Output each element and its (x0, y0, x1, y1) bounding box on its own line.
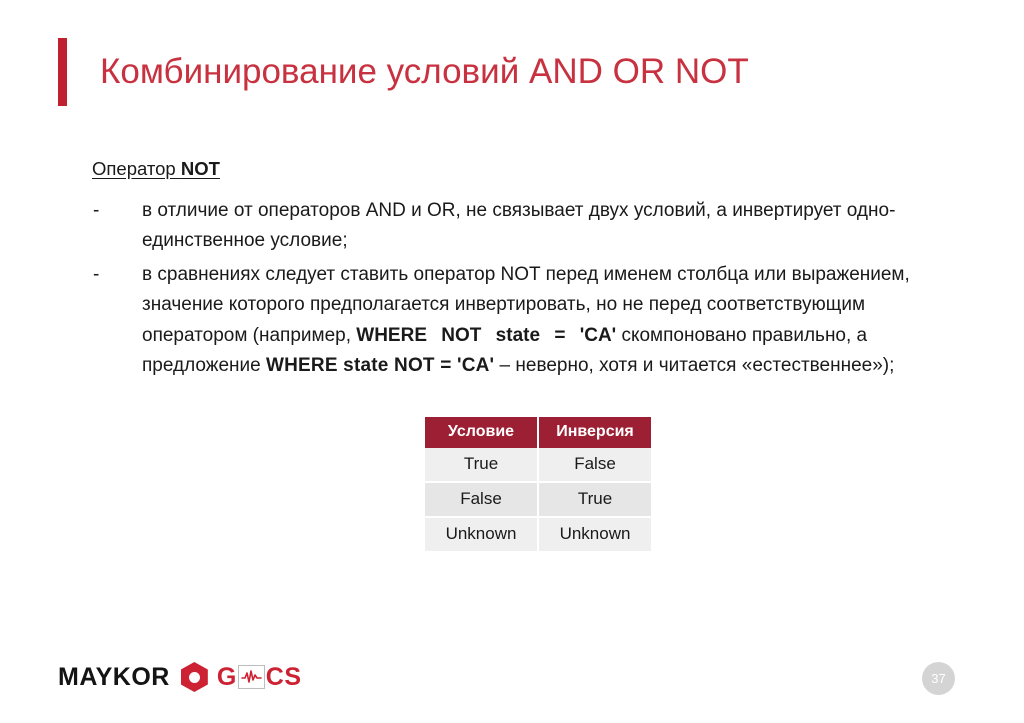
page-title: Комбинирование условий AND OR NOT (100, 53, 749, 92)
bullet-item-1: - в отличие от операторов AND и OR, не с… (92, 196, 952, 257)
sql-example-1: WHERE NOT state = 'CA' (356, 325, 616, 346)
after-sql-2: – неверно, (494, 355, 594, 376)
bullet-item-2: - в сравнениях следует ставить оператор … (92, 260, 952, 382)
company-logo: MAYKOR G CS (58, 660, 302, 694)
table-cell-condition: True (425, 448, 539, 483)
table-cell-inversion: Unknown (539, 518, 651, 551)
table-header-row: Условие Инверсия (425, 417, 651, 448)
table-header-inversion: Инверсия (539, 417, 651, 448)
title-accent-bar (58, 38, 67, 106)
bullet-marker: - (93, 196, 99, 227)
table-cell-condition: False (425, 483, 539, 518)
bullet-2-line-5: хотя и читается «естественнее»); (599, 355, 894, 376)
table-cell-inversion: True (539, 483, 651, 518)
table-cell-inversion: False (539, 448, 651, 483)
logo-maykor-text: MAYKOR (58, 663, 170, 692)
logo-g-text: G (217, 663, 237, 692)
slide: Комбинирование условий AND OR NOT Операт… (0, 0, 1024, 723)
subheading: Оператор NOT (92, 157, 952, 182)
subheading-bold: NOT (181, 158, 220, 179)
bullet-1-line-1: в отличие от операторов AND и OR, не свя… (142, 200, 842, 221)
subheading-prefix: Оператор (92, 158, 181, 179)
bullet-2-line-1: в сравнениях следует ставить оператор NO… (142, 264, 786, 285)
bullet-marker: - (93, 260, 99, 291)
logo-cs-text: CS (266, 663, 302, 692)
truth-table: Условие Инверсия True False False True U… (425, 417, 651, 551)
slide-body: Оператор NOT - в отличие от операторов A… (92, 157, 952, 385)
table-cell-condition: Unknown (425, 518, 539, 551)
sql-example-2: WHERE state NOT = 'CA' (266, 355, 494, 376)
table-row: True False (425, 448, 651, 483)
bullet-list: - в отличие от операторов AND и OR, не с… (92, 196, 952, 382)
table-row: Unknown Unknown (425, 518, 651, 551)
table-row: False True (425, 483, 651, 518)
slide-title-row: Комбинирование условий AND OR NOT (58, 38, 964, 106)
pulse-icon (238, 665, 265, 689)
page-number-badge: 37 (922, 662, 955, 695)
table-header-condition: Условие (425, 417, 539, 448)
hexagon-icon (181, 662, 208, 692)
